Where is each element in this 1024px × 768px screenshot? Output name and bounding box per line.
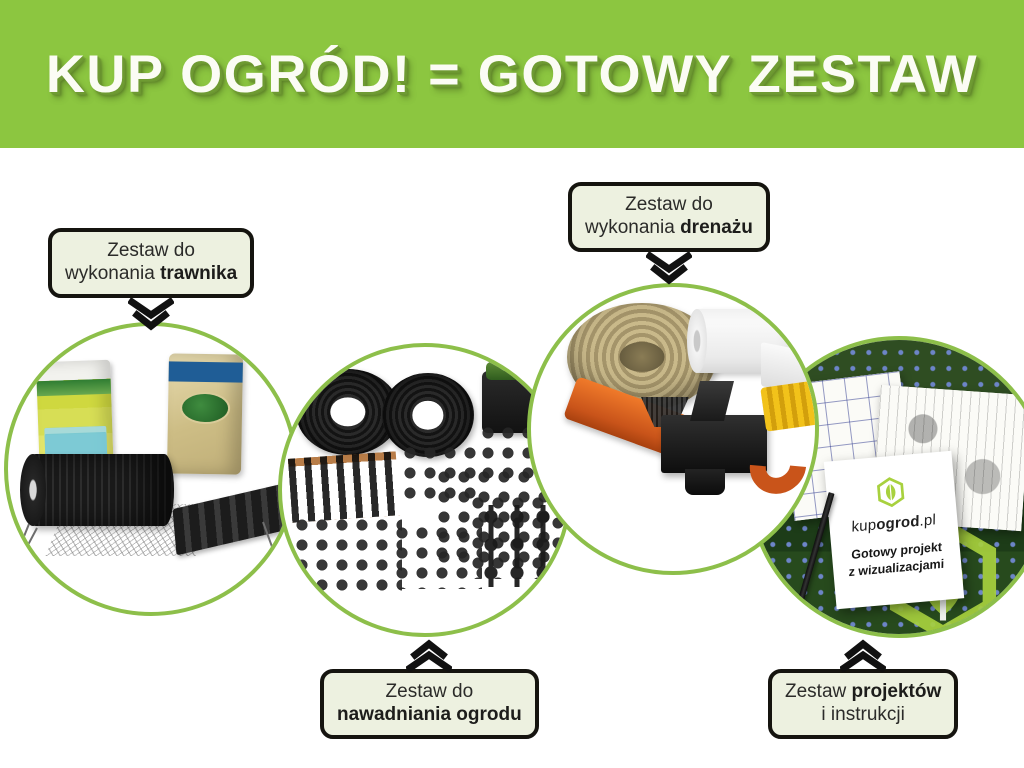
chevron-up-icon	[840, 638, 886, 672]
chevron-down-icon	[646, 252, 692, 286]
grass-seed-bag-majestic-aktiv	[167, 353, 243, 474]
callout-drainage-box: Zestaw do wykonania drenażu	[568, 182, 770, 252]
callout-lawn-line2: wykonania trawnika	[65, 262, 237, 285]
callout-irrigation-box: Zestaw do nawadniania ogrodu	[320, 669, 539, 739]
header-banner: KUP OGRÓD! = GOTOWY ZESTAW	[0, 0, 1024, 148]
geotextile-roll	[691, 309, 807, 373]
callout-projects[interactable]: Zestaw projektów i instrukcji	[768, 669, 958, 739]
brand-name: kupogrod.pl	[851, 511, 936, 535]
poster-root: KUP OGRÓD! = GOTOWY ZESTAW	[0, 0, 1024, 768]
callout-drainage-line1: Zestaw do	[585, 193, 753, 216]
chevron-up-icon	[406, 638, 452, 672]
callout-irrigation-line2: nawadniania ogrodu	[337, 703, 522, 726]
callout-irrigation[interactable]: Zestaw do nawadniania ogrodu	[320, 669, 539, 739]
project-leaflet: kupogrod.pl Gotowy projekt z wizualizacj…	[824, 451, 964, 610]
pop-up-sprinklers	[288, 451, 400, 522]
callout-projects-line1: Zestaw projektów	[785, 680, 941, 703]
drainage-kit-products	[531, 287, 815, 571]
yellow-corrugated-pipe	[760, 378, 819, 431]
callout-projects-line2: i instrukcji	[785, 703, 941, 726]
callout-lawn-box: Zestaw do wykonania trawnika	[48, 228, 254, 298]
callout-lawn-line1: Zestaw do	[65, 239, 237, 262]
kupogrod-logo-leaf-icon	[874, 475, 907, 509]
lawn-edging-strip	[172, 483, 291, 556]
lawn-kit-products	[8, 326, 294, 612]
callout-irrigation-line1: Zestaw do	[337, 680, 522, 703]
callout-lawn[interactable]: Zestaw do wykonania trawnika	[48, 228, 254, 298]
elbow-fittings-group	[392, 523, 482, 589]
drainage-kit-photo[interactable]	[527, 283, 819, 575]
page-title: KUP OGRÓD! = GOTOWY ZESTAW	[46, 44, 978, 105]
lawn-kit-photo[interactable]	[4, 322, 298, 616]
irrigation-kit-products	[282, 347, 568, 633]
callout-projects-box: Zestaw projektów i instrukcji	[768, 669, 958, 739]
anti-mole-mesh-roll	[26, 454, 174, 526]
chevron-down-icon	[128, 298, 174, 332]
irrigation-kit-photo[interactable]	[278, 343, 572, 637]
elbow-fittings-group	[292, 515, 402, 593]
callout-drainage-line2: wykonania drenażu	[585, 216, 753, 239]
leaflet-tagline: Gotowy projekt z wizualizacjami	[849, 539, 945, 581]
callout-drainage[interactable]: Zestaw do wykonania drenażu	[568, 182, 770, 252]
